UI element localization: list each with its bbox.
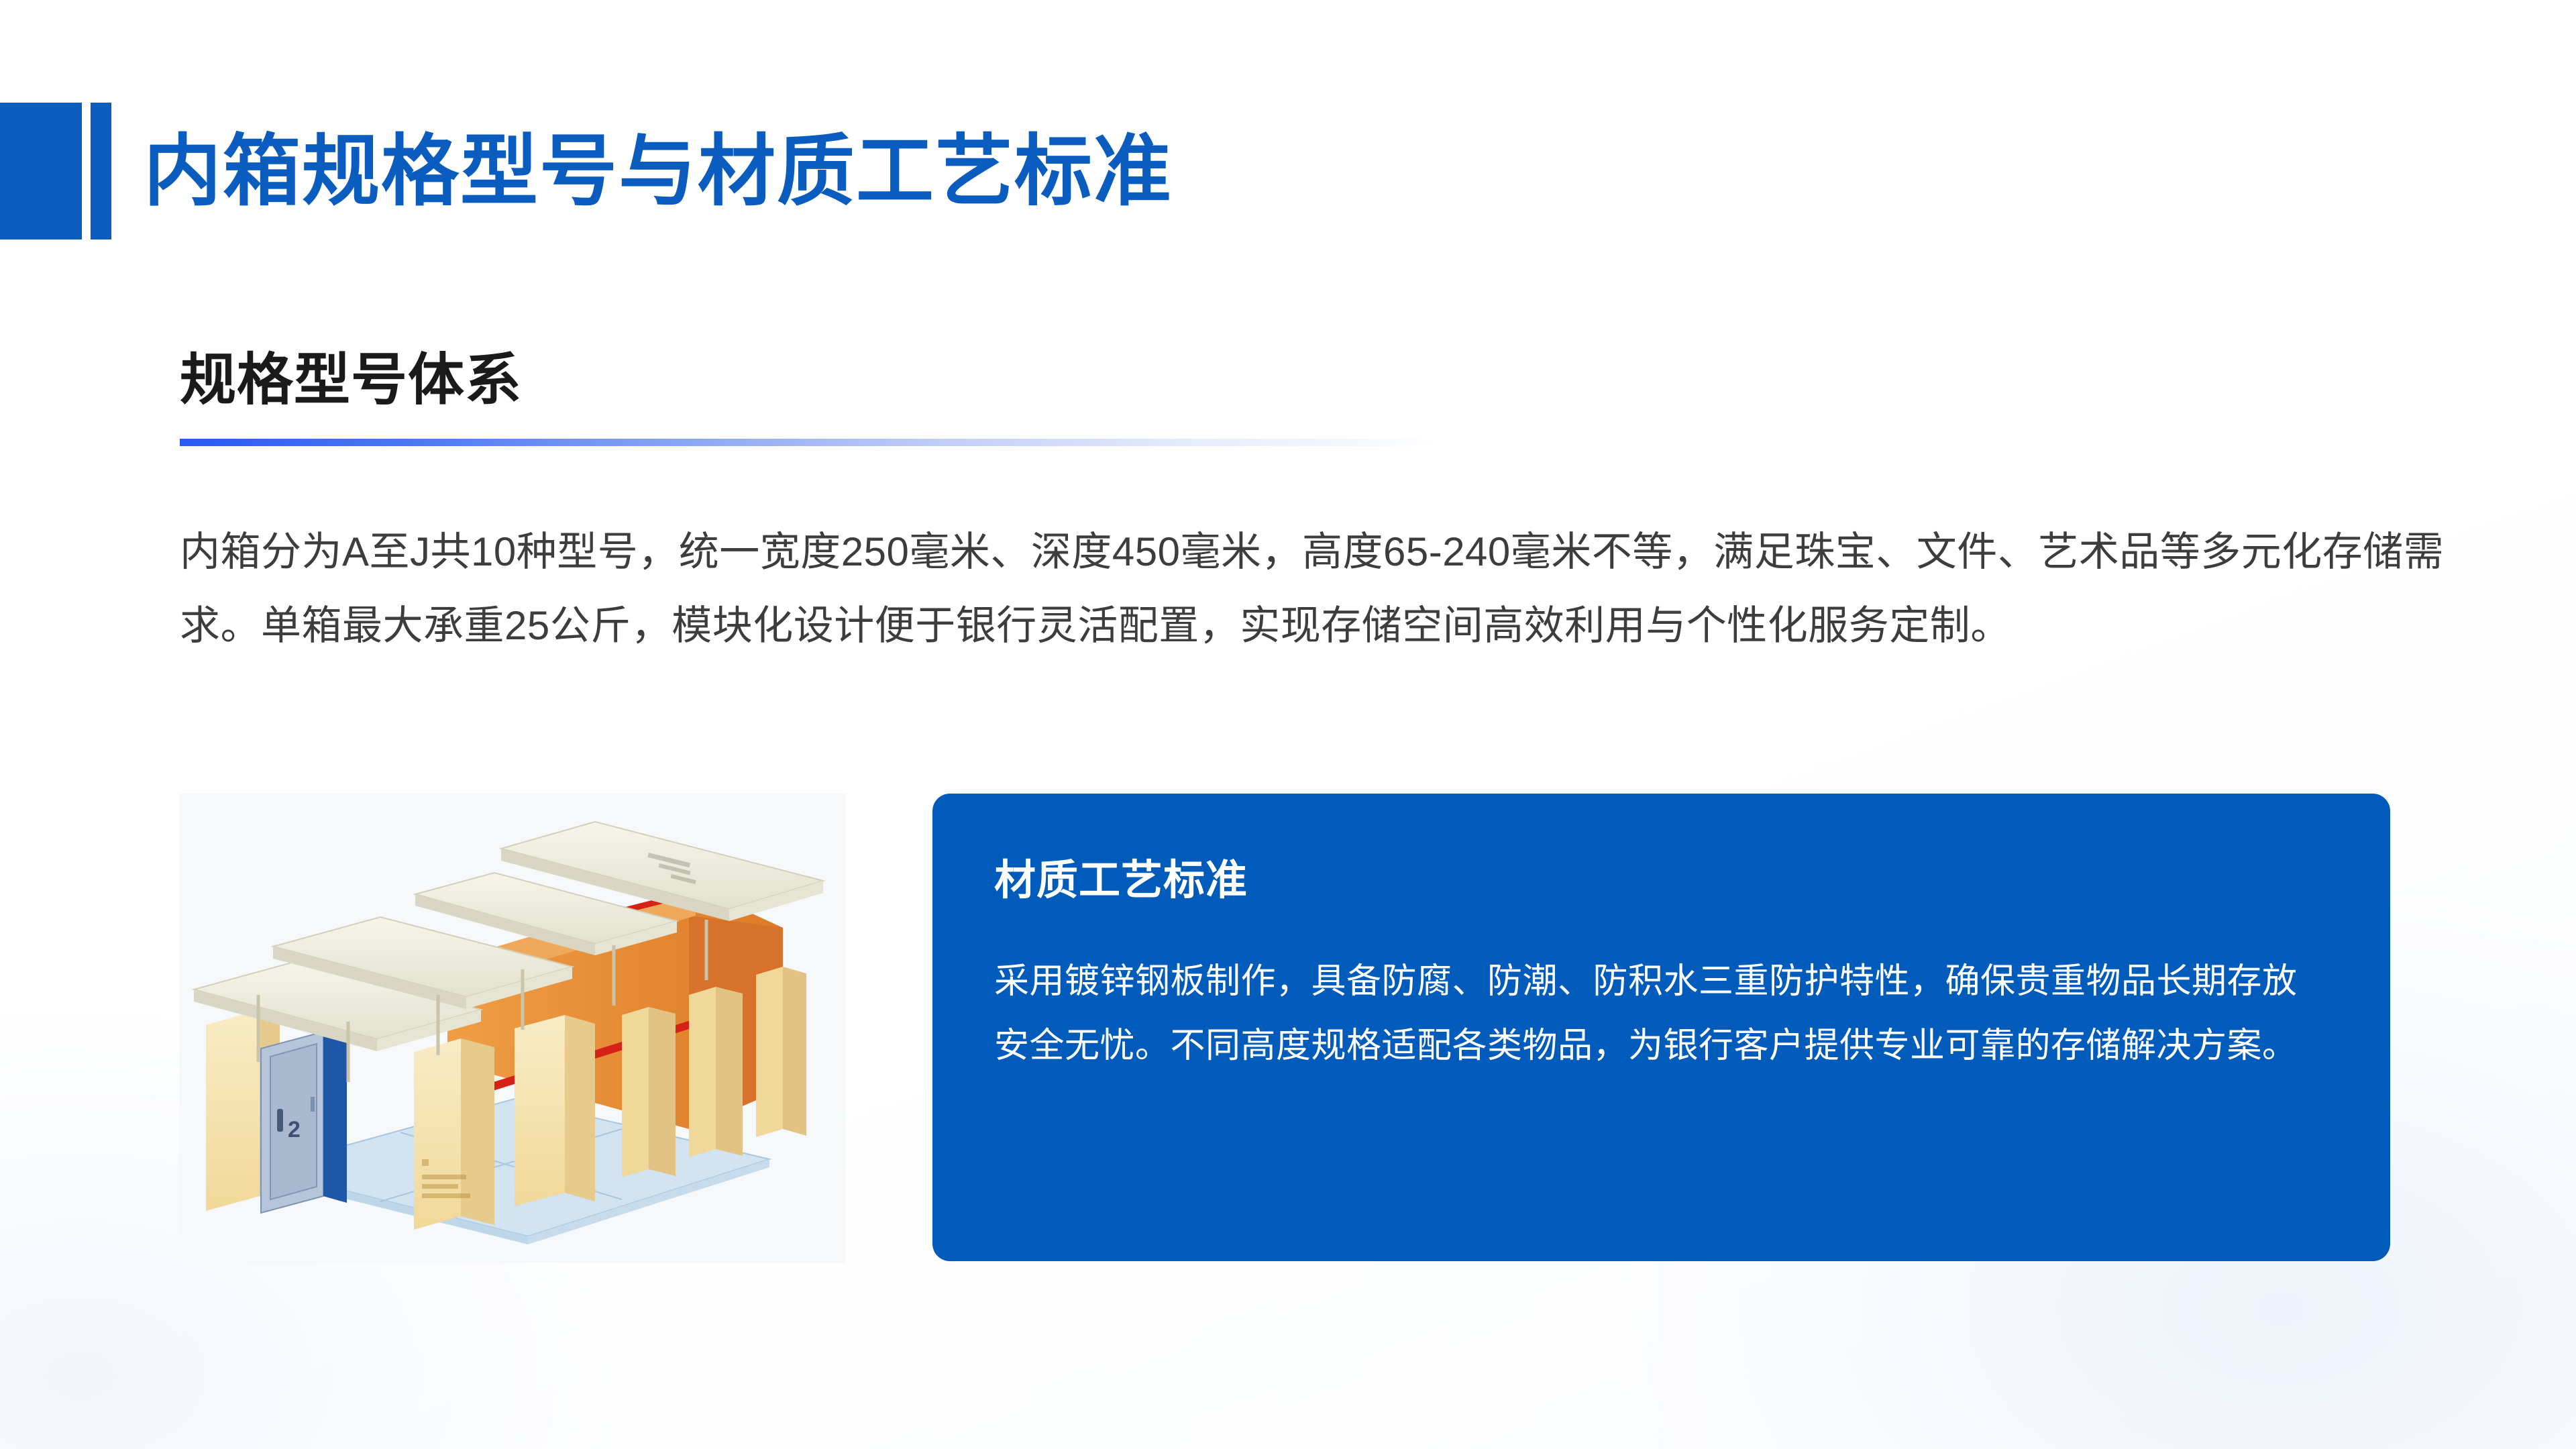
slide-root: 内箱规格型号与材质工艺标准 规格型号体系 内箱分为A至J共10种型号，统一宽度2…	[0, 0, 2576, 1449]
illustration-svg: 2	[179, 794, 847, 1263]
page-header: 内箱规格型号与材质工艺标准	[0, 103, 1173, 239]
section-paragraph: 内箱分为A至J共10种型号，统一宽度250毫米、深度450毫米，高度65-240…	[180, 515, 2461, 663]
section-heading-block: 规格型号体系	[180, 349, 1441, 446]
content-row: 2	[179, 794, 2390, 1263]
inner-box-structure-illustration: 2	[179, 794, 847, 1263]
page-title: 内箱规格型号与材质工艺标准	[144, 132, 1173, 210]
accent-bar-thick-icon	[0, 103, 82, 239]
title-accent-bars	[0, 103, 111, 239]
info-card-title: 材质工艺标准	[994, 858, 2328, 904]
svg-text:2: 2	[288, 1117, 301, 1142]
section-title: 规格型号体系	[180, 349, 1441, 411]
material-standard-card: 材质工艺标准 采用镀锌钢板制作，具备防腐、防潮、防积水三重防护特性，确保贵重物品…	[932, 794, 2390, 1261]
accent-bar-thin-icon	[91, 103, 111, 239]
accent-bar-gap	[82, 103, 91, 239]
vault-door: 2	[261, 1032, 347, 1213]
info-card-body: 采用镀锌钢板制作，具备防腐、防潮、防积水三重防护特性，确保贵重物品长期存放安全无…	[994, 949, 2328, 1078]
section-divider	[180, 439, 1438, 446]
